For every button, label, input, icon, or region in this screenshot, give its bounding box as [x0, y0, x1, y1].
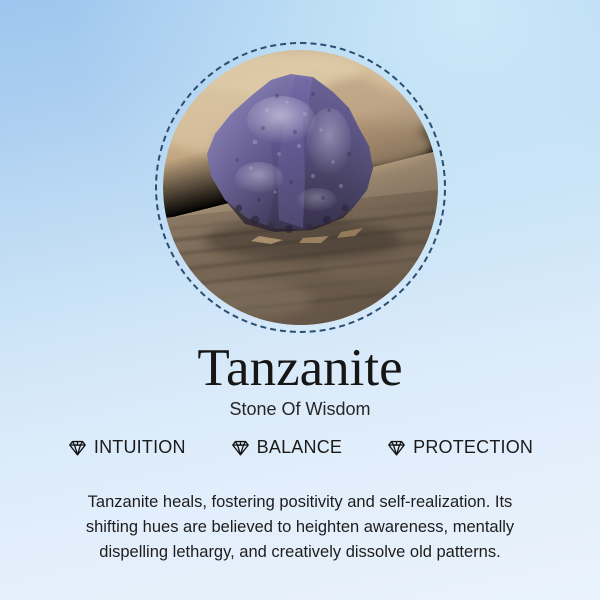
attribute-item-balance: BALANCE [230, 436, 342, 458]
dashed-ring-border [155, 42, 446, 333]
attribute-list: INTUITION BALANCE [0, 436, 600, 458]
attribute-item-intuition: INTUITION [67, 436, 186, 458]
description-text: Tanzanite heals, fostering positivity an… [75, 490, 525, 565]
attribute-label: INTUITION [94, 436, 186, 458]
attribute-label: PROTECTION [413, 436, 533, 458]
attribute-item-protection: PROTECTION [386, 436, 533, 458]
page-title: Tanzanite [0, 339, 600, 397]
gem-icon [67, 437, 88, 458]
gem-icon [386, 437, 407, 458]
gemstone-info-card: Tanzanite Stone Of Wisdom INTUITION [0, 0, 600, 600]
stone-photo-circle [155, 42, 446, 333]
attribute-label: BALANCE [257, 436, 342, 458]
gem-icon [230, 437, 251, 458]
page-subtitle: Stone Of Wisdom [0, 397, 600, 421]
